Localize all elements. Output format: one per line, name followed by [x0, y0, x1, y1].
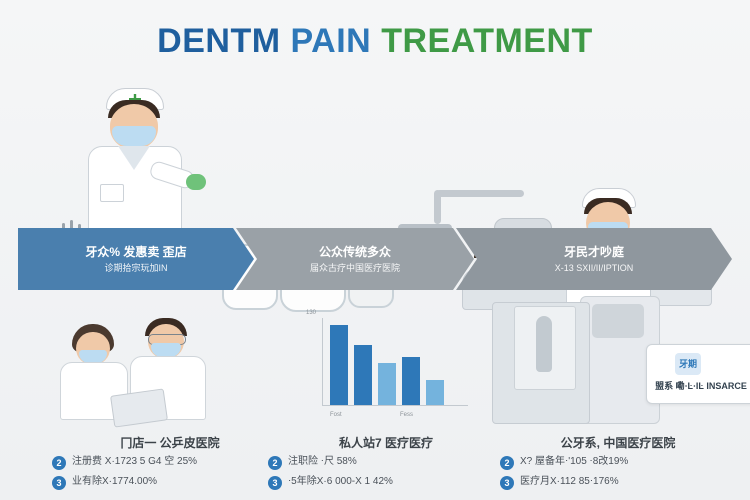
glove-icon	[186, 174, 206, 190]
insurance-card[interactable]: 牙期 盟系 嘞⋅Ŀ⋅IĿ INSARCE	[646, 344, 750, 404]
list-item: 2 X? 屋备年⋅'105 ⋅8改19%	[500, 456, 736, 470]
column-1-heading: 冂店一 公乒皮医院	[52, 434, 288, 451]
chart-bar	[354, 345, 372, 405]
process-ribbon: 牙众% 发惠卖 歪店 诊期拾宗玩加IN 公众传统多众 届众古疗中国医疗医院 牙民…	[18, 228, 732, 290]
column-1-rows: 2 注册费 X·1723 5 G4 空 25% 3 业有除X·1774.00%	[52, 456, 288, 496]
chart-x-tick-label: Fost	[330, 412, 342, 418]
pocket-shape	[100, 184, 124, 202]
bottom-columns: 冂店一 公乒皮医院 2 注册费 X·1723 5 G4 空 25% 3 业有除X…	[0, 296, 750, 500]
face-mask-icon	[112, 126, 156, 146]
chart-bar	[426, 380, 444, 405]
insurance-card-text: 盟系 嘞⋅Ŀ⋅IĿ INSARCE	[653, 379, 749, 392]
illustration-band	[0, 78, 750, 228]
xray-tooth-image	[536, 316, 552, 372]
process-step-1[interactable]: 牙众% 发惠卖 歪店 诊期拾宗玩加IN	[18, 228, 254, 290]
list-item: 3 ⋅5年除X·6 000-X 1 42%	[268, 476, 504, 490]
dentist-left-illustration	[78, 88, 188, 228]
title-word-3: TREATMENT	[381, 22, 593, 60]
chart-bar	[378, 363, 396, 405]
lamp-arm-horizontal	[436, 190, 524, 197]
process-step-2-label: 公众传统多众	[319, 245, 391, 260]
list-item-number: 3	[52, 476, 66, 490]
chart-bar	[402, 357, 420, 405]
list-item-number: 3	[500, 476, 514, 490]
list-item: 2 注职险 ⋅尺 58%	[268, 456, 504, 470]
list-item-number: 2	[268, 456, 282, 470]
list-item: 3 业有除X·1774.00%	[52, 476, 288, 490]
chart-x-axis	[322, 405, 468, 406]
column-3-heading: 公牙系, 中国医疗医院	[500, 434, 736, 451]
list-item-text: 注职险 ⋅尺 58%	[288, 456, 357, 469]
list-item-text: 业有除X·1774.00%	[72, 476, 157, 489]
title-word-1: DENTM	[157, 22, 280, 60]
insurance-logo-icon: 牙期	[675, 353, 701, 375]
chart-x-tick-label: Fess	[400, 412, 413, 418]
chart-bar	[330, 325, 348, 405]
list-item-text: X? 屋备年⋅'105 ⋅8改19%	[520, 456, 628, 469]
cost-bar-chart: 130 Fost Fess	[300, 310, 470, 420]
consultation-illustration	[52, 296, 288, 430]
process-step-1-label: 牙众% 发惠卖 歪店	[85, 245, 186, 260]
process-step-3-sublabel: X-13 SXII/II/IPTION	[555, 263, 634, 274]
process-step-1-sublabel: 诊期拾宗玩加IN	[104, 263, 167, 274]
list-item: 2 注册费 X·1723 5 G4 空 25%	[52, 456, 288, 470]
list-item: 3 医疗月X·112 85⋅176%	[500, 476, 736, 490]
list-item-number: 2	[500, 456, 514, 470]
column-2-heading: 私人站7 医疗医疗	[268, 434, 504, 451]
column-2-rows: 2 注职险 ⋅尺 58% 3 ⋅5年除X·6 000-X 1 42%	[268, 456, 504, 496]
list-item-number: 2	[52, 456, 66, 470]
xray-machine-head	[592, 304, 644, 338]
list-item-text: 注册费 X·1723 5 G4 空 25%	[72, 456, 197, 469]
title-word-2: PAIN	[291, 22, 372, 60]
column-3-rows: 2 X? 屋备年⋅'105 ⋅8改19% 3 医疗月X·112 85⋅176%	[500, 456, 736, 496]
process-step-2[interactable]: 公众传统多众 届众古疗中国医疗医院	[236, 228, 474, 290]
process-step-2-sublabel: 届众古疗中国医疗医院	[310, 263, 400, 274]
process-step-3-label: 牙民才吵庭	[564, 245, 624, 260]
chart-y-tick-label: 130	[306, 310, 316, 316]
face-mask-icon	[151, 343, 181, 357]
list-item-text: ⋅5年除X·6 000-X 1 42%	[288, 476, 393, 489]
process-step-3[interactable]: 牙民才吵庭 X-13 SXII/II/IPTION	[456, 228, 732, 290]
page-title: DENTM PAIN TREATMENT	[0, 22, 750, 61]
chart-y-axis	[322, 318, 323, 406]
tablet-icon	[110, 388, 168, 427]
list-item-text: 医疗月X·112 85⋅176%	[520, 476, 619, 489]
list-item-number: 3	[268, 476, 282, 490]
poster-canvas: DENTM PAIN TREATMENT	[0, 0, 750, 500]
xray-room-illustration: 牙期 盟系 嘞⋅Ŀ⋅IĿ INSARCE	[500, 296, 736, 430]
